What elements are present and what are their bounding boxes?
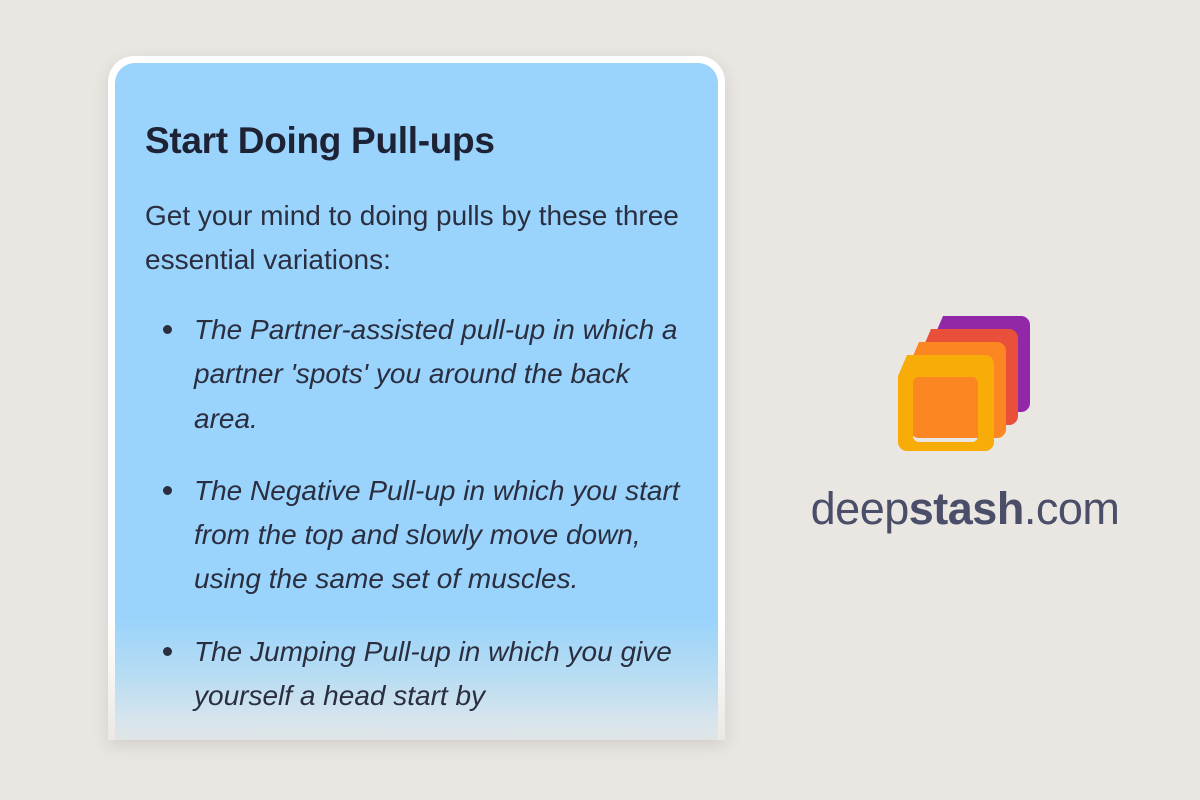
wordmark-prefix: deep bbox=[811, 483, 909, 534]
brand-block: deepstash.com bbox=[800, 300, 1130, 535]
list-item: The Negative Pull-up in which you start … bbox=[145, 469, 684, 602]
bullet-dot-icon bbox=[163, 325, 172, 334]
list-item-label: The Partner-assisted pull-up in which a … bbox=[194, 314, 678, 433]
list-item-label: The Negative Pull-up in which you start … bbox=[194, 475, 680, 594]
list-item: The Partner-assisted pull-up in which a … bbox=[145, 308, 684, 441]
card-title: Start Doing Pull-ups bbox=[145, 121, 684, 162]
list-item: The Jumping Pull-up in which you give yo… bbox=[145, 630, 684, 718]
card-surface: Start Doing Pull-ups Get your mind to do… bbox=[115, 63, 718, 740]
wordmark-emphasis: stash bbox=[909, 483, 1024, 534]
variations-list: The Partner-assisted pull-up in which a … bbox=[145, 308, 684, 718]
idea-card[interactable]: Start Doing Pull-ups Get your mind to do… bbox=[108, 56, 725, 740]
wordmark-suffix: .com bbox=[1024, 483, 1120, 534]
brand-wordmark: deepstash.com bbox=[800, 483, 1130, 535]
list-item-label: The Jumping Pull-up in which you give yo… bbox=[194, 636, 672, 711]
card-intro-text: Get your mind to doing pulls by these th… bbox=[145, 194, 684, 282]
bullet-dot-icon bbox=[163, 486, 172, 495]
bullet-dot-icon bbox=[163, 647, 172, 656]
deepstash-stacked-squares-logo-icon bbox=[888, 300, 1043, 465]
